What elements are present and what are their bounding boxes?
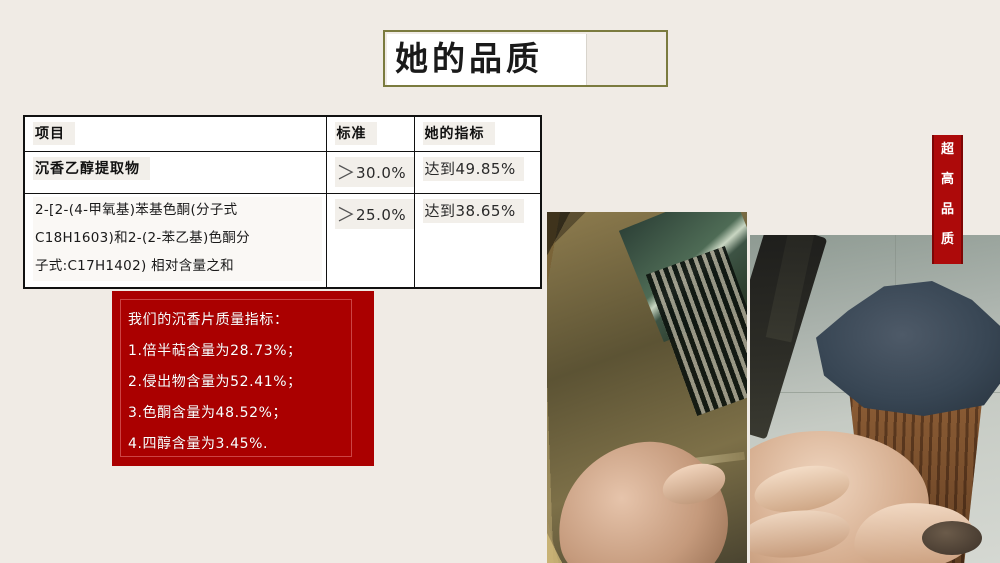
photo-agarwood-block [750,235,1000,563]
header-label-item: 项目 [33,122,75,145]
header-label-her-index: 她的指标 [423,122,495,145]
page-title: 她的品质 [395,37,543,81]
callout-item-3: 3.色酮含量为48.52%； [128,398,364,429]
cell-standard-1: ＞30.0% [326,152,414,194]
cell-standard-2: ＞25.0% [326,194,414,289]
standard-number-1: 30.0% [356,164,406,182]
standard-value-1: ＞30.0% [335,157,415,187]
banner-char-4: 质 [934,225,961,255]
her-index-value-2: 达到38.65% [423,199,524,223]
table-row: 2-[2-(4-甲氧基)苯基色酮(分子式 C18H1603)和2-(2-苯乙基)… [24,194,541,289]
photo-agarwood-chips [547,212,747,563]
table-row: 沉香乙醇提取物 ＞30.0% 达到49.85% [24,152,541,194]
cell-her-index-1: 达到49.85% [414,152,541,194]
table-header-her-index: 她的指标 [414,116,541,152]
table-header-row: 项目 标准 她的指标 [24,116,541,152]
table-header-standard: 标准 [326,116,414,152]
cell-item-2: 2-[2-(4-甲氧基)苯基色酮(分子式 C18H1603)和2-(2-苯乙基)… [24,194,326,289]
header-label-standard: 标准 [335,122,377,145]
callout-item-1: 1.倍半萜含量为28.73%； [128,336,364,367]
item-name-2-line-2: C18H1603)和2-(2-苯乙基)色酮分 [33,225,322,253]
cell-item-1: 沉香乙醇提取物 [24,152,326,194]
standard-value-2: ＞25.0% [335,199,415,229]
spec-table: 项目 标准 她的指标 沉香乙醇提取物 ＞30.0% 达到49.85% [23,115,542,289]
callout-text-block: 我们的沉香片质量指标： 1.倍半萜含量为28.73%； 2.侵出物含量为52.4… [128,305,364,460]
background-pebble [922,521,982,555]
banner-char-3: 品 [934,195,961,225]
standard-number-2: 25.0% [356,206,406,224]
item-name-2-line-3: 子式:C17H1402) 相对含量之和 [33,253,322,281]
item-name-2-line-1: 2-[2-(4-甲氧基)苯基色酮(分子式 [33,197,322,225]
greater-than-icon: ＞ [337,204,357,226]
slide-canvas: 她的品质 项目 标准 她的指标 沉香乙醇提取物 ＞30.0% [0,0,1000,563]
banner-char-1: 超 [934,135,961,165]
banner-char-2: 高 [934,165,961,195]
quality-callout-box: 我们的沉香片质量指标： 1.倍半萜含量为28.73%； 2.侵出物含量为52.4… [112,291,374,466]
her-index-value-1: 达到49.85% [423,157,524,181]
callout-item-2: 2.侵出物含量为52.41%； [128,367,364,398]
vertical-quality-banner: 超 高 品 质 [932,135,963,264]
callout-heading: 我们的沉香片质量指标： [128,305,364,336]
cell-her-index-2: 达到38.65% [414,194,541,289]
greater-than-icon: ＞ [337,162,357,184]
table-header-item: 项目 [24,116,326,152]
item-name-1: 沉香乙醇提取物 [33,157,150,180]
callout-item-4: 4.四醇含量为3.45%. [128,429,364,460]
